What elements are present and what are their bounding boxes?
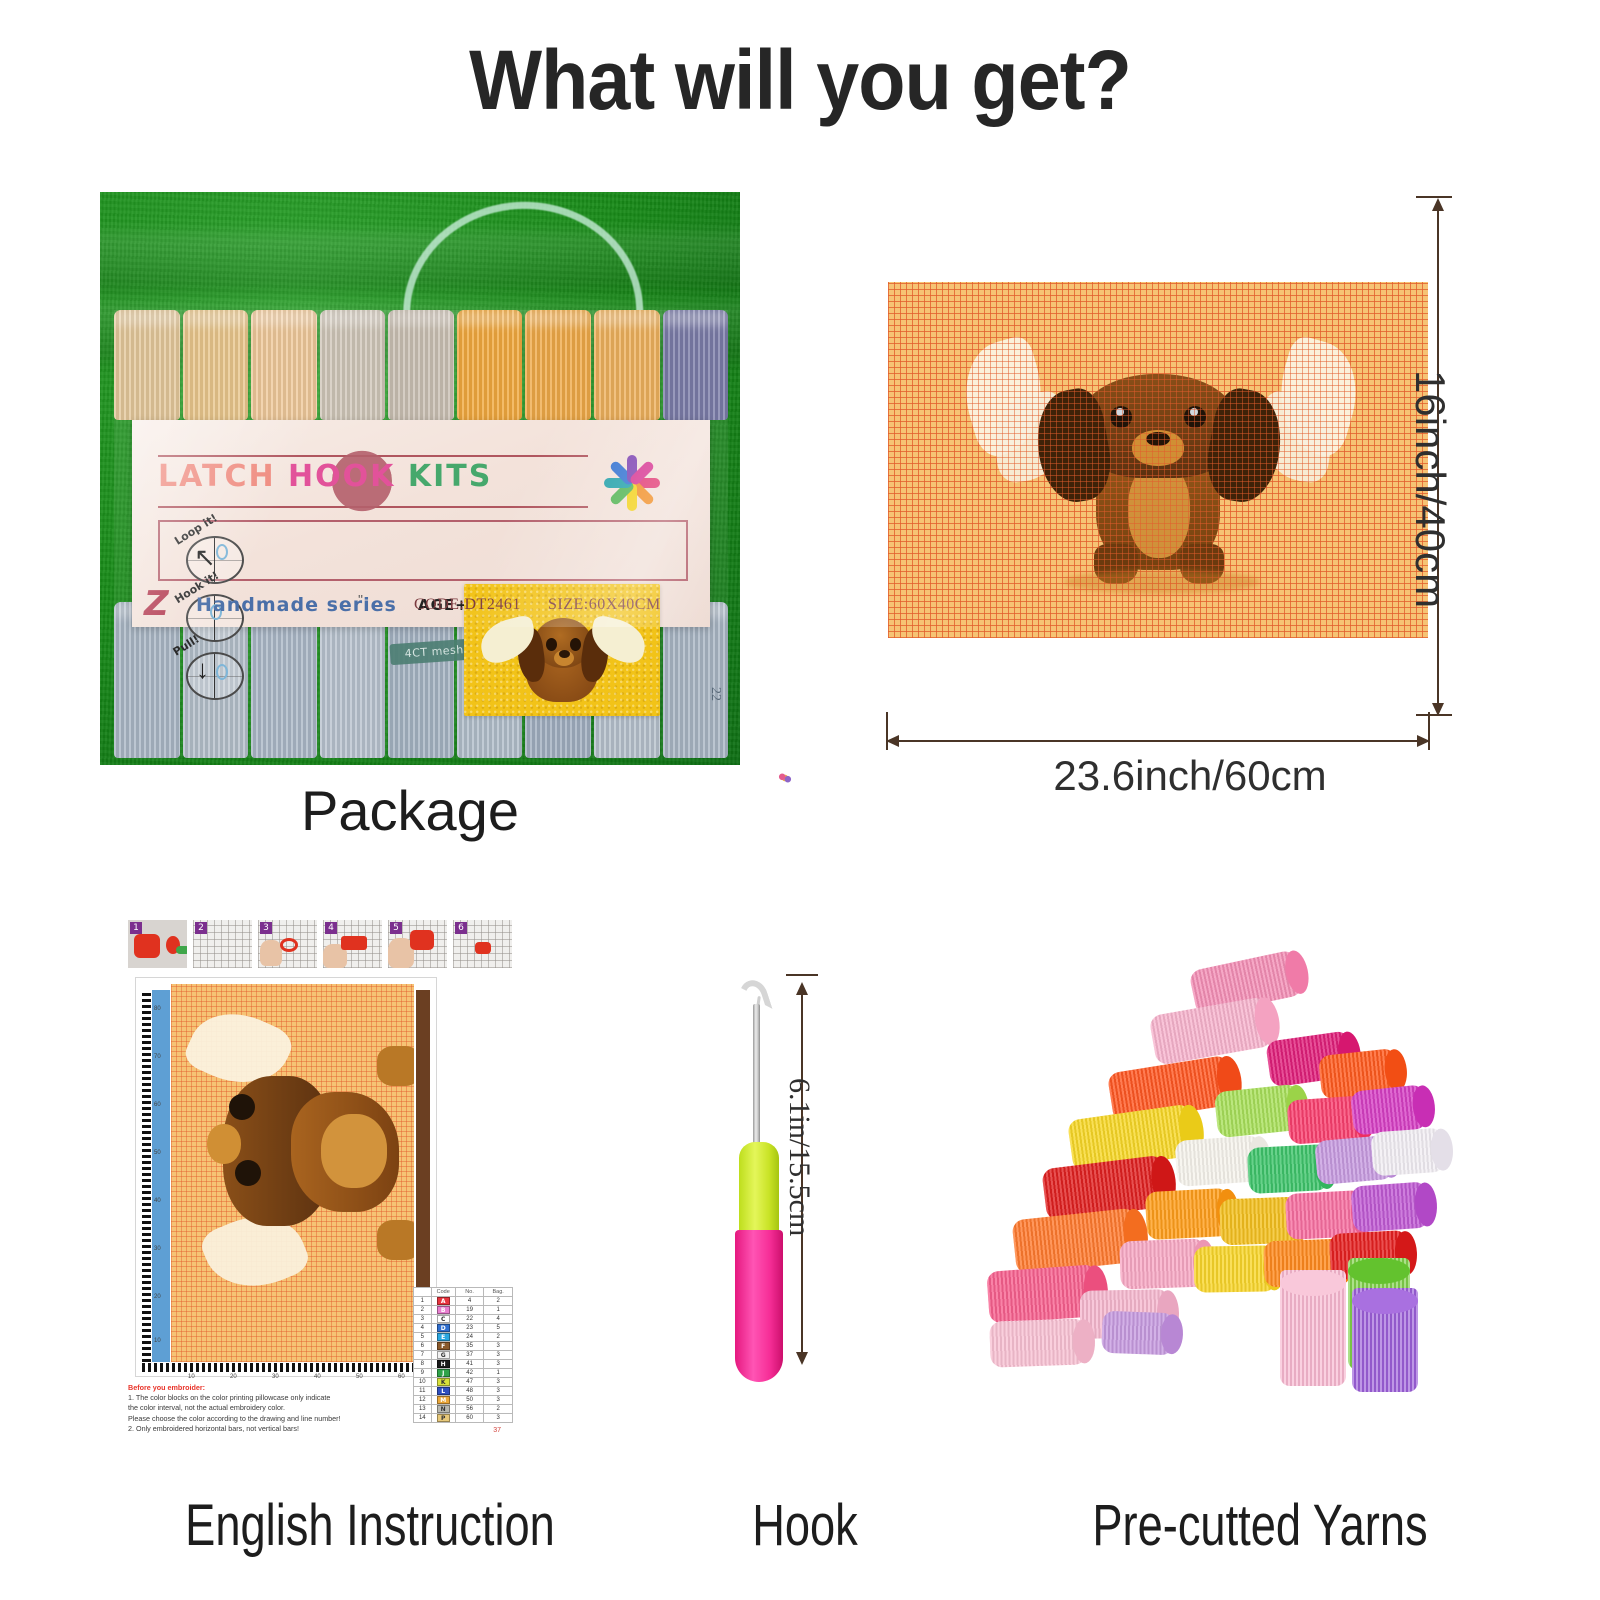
table-row: 13N562 <box>414 1405 513 1414</box>
cell-index: 3 <box>414 1315 432 1324</box>
cell-code: C <box>431 1315 455 1324</box>
yarn-bundle <box>1101 1311 1174 1355</box>
cell-no: 19 <box>455 1306 484 1315</box>
color-swatch: C <box>437 1315 450 1323</box>
hook-length-label: 6.1in/15.5cm <box>782 1078 816 1236</box>
hook-dim-tick-top <box>786 974 818 976</box>
color-swatch: A <box>437 1297 450 1305</box>
caption-pre-cutted-yarns: Pre-cutted Yarns <box>1003 1492 1518 1559</box>
dim-arrow-right <box>1417 735 1430 747</box>
cell-bag: 2 <box>484 1297 513 1306</box>
english-instruction-sheet: 1 2 3 4 5 <box>125 905 517 1475</box>
yarn-bundle <box>1145 1188 1231 1240</box>
cell-bag: 5 <box>484 1324 513 1333</box>
dimension-height-label: 16inch/40cm <box>1406 370 1454 608</box>
cell-code: G <box>431 1351 455 1360</box>
table-row: 1A42 <box>414 1297 513 1306</box>
color-swatch: J <box>437 1369 450 1377</box>
cell-code: N <box>431 1405 455 1414</box>
chart-axis-number: 10 <box>154 1338 161 1344</box>
color-swatch: P <box>437 1414 450 1422</box>
cell-no: 47 <box>455 1378 484 1387</box>
cell-bag: 1 <box>484 1369 513 1378</box>
chart-axis-number: 50 <box>154 1150 161 1156</box>
hook-dim-arrow-down <box>796 1352 808 1365</box>
note-heading: Before you embroider: <box>128 1383 418 1393</box>
cell-index: 5 <box>414 1333 432 1342</box>
hook-handle-lower <box>735 1230 783 1382</box>
yarn-roll <box>183 310 249 420</box>
cell-code: L <box>431 1387 455 1396</box>
cell-code: H <box>431 1360 455 1369</box>
col-bag: Bag. <box>484 1288 513 1297</box>
cell-bag: 4 <box>484 1315 513 1324</box>
mesh-canvas-photo <box>888 282 1428 638</box>
cell-no: 56 <box>455 1405 484 1414</box>
cell-no: 35 <box>455 1342 484 1351</box>
series-name: Handmade series <box>196 594 397 616</box>
caption-hook: Hook <box>676 1492 933 1559</box>
note-line: the color interval, not the actual embro… <box>128 1403 285 1412</box>
yarn-bundle <box>1350 1181 1429 1232</box>
cell-index: 6 <box>414 1342 432 1351</box>
cell-code: J <box>431 1369 455 1378</box>
pinwheel-logo-icon <box>600 446 664 510</box>
chart-color-bar-blue <box>152 990 170 1362</box>
cell-no: 22 <box>455 1315 484 1324</box>
step-thumbnail: 1 <box>128 920 187 968</box>
cell-code: D <box>431 1324 455 1333</box>
chart-ruler-left <box>142 990 151 1362</box>
cell-no: 23 <box>455 1324 484 1333</box>
brand-word-hook: HOOK <box>288 459 395 494</box>
pattern-chart: 80 70 60 50 40 30 20 10 10 20 30 40 50 6… <box>135 977 437 1377</box>
cell-no: 41 <box>455 1360 484 1369</box>
cell-index: 2 <box>414 1306 432 1315</box>
table-row: 5E242 <box>414 1333 513 1342</box>
table-row: 10K473 <box>414 1378 513 1387</box>
cell-bag: 2 <box>484 1333 513 1342</box>
yarn-tube <box>1280 1270 1346 1386</box>
cell-code: F <box>431 1342 455 1351</box>
cell-bag: 3 <box>484 1378 513 1387</box>
yarn-roll <box>594 310 660 420</box>
color-swatch: G <box>437 1351 450 1359</box>
cell-bag: 1 <box>484 1306 513 1315</box>
color-swatch: M <box>437 1396 450 1404</box>
note-line: Please choose the color according to the… <box>128 1414 341 1423</box>
table-row: 11L483 <box>414 1387 513 1396</box>
package-bag: LATCH HOOK KITS <box>114 310 728 758</box>
cell-bag: 3 <box>484 1396 513 1405</box>
note-line: 1. The color blocks on the color printin… <box>128 1393 330 1402</box>
step-number: 2 <box>195 922 207 934</box>
cell-no: 48 <box>455 1387 484 1396</box>
cell-no: 37 <box>455 1351 484 1360</box>
cell-no: 42 <box>455 1369 484 1378</box>
pixelated-puppy-artwork <box>888 282 1428 638</box>
yarn-bundle <box>989 1318 1087 1367</box>
cell-no: 60 <box>455 1414 484 1423</box>
cell-bag: 2 <box>484 1405 513 1414</box>
yarn-rolls-top <box>114 310 728 420</box>
cell-bag: 3 <box>484 1342 513 1351</box>
cell-code: M <box>431 1396 455 1405</box>
chart-pattern-grid <box>171 984 414 1362</box>
chart-axis-number: 50 <box>356 1374 363 1380</box>
dim-arrow-down <box>1432 703 1444 716</box>
chart-axis-number: 10 <box>188 1374 195 1380</box>
cell-index: 1 <box>414 1297 432 1306</box>
z-logo-icon: Z <box>144 589 188 619</box>
step-thumbnail: 4 <box>323 920 382 968</box>
cell-index: 8 <box>414 1360 432 1369</box>
dim-arrow-up <box>1432 198 1444 211</box>
cell-no: 4 <box>455 1297 484 1306</box>
yarn-roll <box>251 310 317 420</box>
brand-title: LATCH HOOK KITS <box>158 459 594 494</box>
yarn-roll <box>320 310 386 420</box>
color-swatch: L <box>437 1387 450 1395</box>
infographic-page: What will you get? <box>0 0 1600 1600</box>
yarn-roll <box>663 310 729 420</box>
cell-code: P <box>431 1414 455 1423</box>
step-pull: ↓ Pull! <box>186 652 244 700</box>
chart-axis-number: 60 <box>154 1102 161 1108</box>
color-swatch: N <box>437 1405 450 1413</box>
chart-axis-number: 30 <box>272 1374 279 1380</box>
color-swatch: B <box>437 1306 450 1314</box>
table-header-row: Code No. Bag. <box>414 1288 513 1297</box>
caption-english-instruction: English Instruction <box>97 1492 643 1559</box>
table-row: 9J421 <box>414 1369 513 1378</box>
yarn-bundle <box>1371 1128 1446 1177</box>
bag-side-number: 22 <box>707 687 723 701</box>
trademark-mark: '' <box>358 592 363 607</box>
step-thumbnail: 2 <box>193 920 252 968</box>
table-row: 12M503 <box>414 1396 513 1405</box>
color-swatch: H <box>437 1360 450 1368</box>
table-row: 6F353 <box>414 1342 513 1351</box>
label-footer: Z Handmade series '' CODE:DT2461 SIZE:60… <box>132 585 710 621</box>
step-photo-strip: 1 2 3 4 5 <box>128 920 512 968</box>
yarn-roll <box>457 310 523 420</box>
color-swatch: E <box>437 1333 450 1341</box>
cell-bag: 3 <box>484 1414 513 1423</box>
product-code: CODE:DT2461 <box>414 596 521 614</box>
yarn-roll <box>525 310 591 420</box>
package-photo: LATCH HOOK KITS <box>100 192 740 765</box>
dimension-line-horizontal <box>892 740 1426 742</box>
hook-handle-upper <box>739 1142 779 1234</box>
product-size: SIZE:60X40CM <box>548 596 661 614</box>
before-you-embroider-note: Before you embroider: 1. The color block… <box>128 1383 418 1434</box>
yarn-roll <box>114 310 180 420</box>
chart-axis-number: 30 <box>154 1246 161 1252</box>
table-row: 2B191 <box>414 1306 513 1315</box>
yarn-bundle <box>1350 1084 1428 1135</box>
col-code: Code <box>431 1288 455 1297</box>
table-row: 7G373 <box>414 1351 513 1360</box>
chart-axis-number: 40 <box>314 1374 321 1380</box>
color-swatch: K <box>437 1378 450 1386</box>
step-number: 5 <box>390 922 402 934</box>
step-thumbnail: 5 <box>388 920 447 968</box>
color-speck-artifact <box>778 772 792 784</box>
col-no: No. <box>455 1288 484 1297</box>
color-swatch: F <box>437 1342 450 1350</box>
instruction-panel: ↖ Loop it! Hook it! ↓ <box>158 520 688 581</box>
cell-index: 7 <box>414 1351 432 1360</box>
chart-axis-number: 80 <box>154 1006 161 1012</box>
brand-word-kits: KITS <box>408 459 492 494</box>
cell-no: 24 <box>455 1333 484 1342</box>
cell-bag: 3 <box>484 1387 513 1396</box>
page-title: What will you get? <box>64 32 1536 129</box>
package-label: LATCH HOOK KITS <box>132 420 710 627</box>
cell-code: K <box>431 1378 455 1387</box>
cell-bag: 3 <box>484 1351 513 1360</box>
latch-hook-tool <box>690 960 870 1400</box>
cell-no: 50 <box>455 1396 484 1405</box>
table-row: 4D235 <box>414 1324 513 1333</box>
table-row: 8H413 <box>414 1360 513 1369</box>
step-number: 1 <box>130 922 142 934</box>
color-code-table: Code No. Bag. 1A422B1913C2244D2355E2426F… <box>413 1287 513 1423</box>
note-line: 2. Only embroidered horizontal bars, not… <box>128 1424 299 1433</box>
chart-axis-number: 20 <box>230 1374 237 1380</box>
cell-code: E <box>431 1333 455 1342</box>
table-row: 14P603 <box>414 1414 513 1423</box>
chart-axis-number: 40 <box>154 1198 161 1204</box>
chart-axis-number: 60 <box>398 1374 405 1380</box>
step-number: 3 <box>260 922 272 934</box>
yarn-bundle <box>1149 996 1274 1066</box>
color-table-total: 37 <box>493 1427 501 1434</box>
hook-dim-arrow-up <box>796 982 808 995</box>
step-number: 6 <box>455 922 467 934</box>
dimension-width-label: 23.6inch/60cm <box>940 752 1440 800</box>
brand-word-latch: LATCH <box>158 459 276 494</box>
chart-axis-number: 70 <box>154 1054 161 1060</box>
cell-index: 4 <box>414 1324 432 1333</box>
table-row: 3C224 <box>414 1315 513 1324</box>
hook-shaft <box>753 1004 760 1150</box>
col-index <box>414 1288 432 1297</box>
step-thumbnail: 6 <box>453 920 512 968</box>
chart-axis-number: 20 <box>154 1294 161 1300</box>
cell-index: 9 <box>414 1369 432 1378</box>
cell-code: B <box>431 1306 455 1315</box>
yarn-tube <box>1352 1288 1418 1392</box>
caption-package: Package <box>100 778 720 843</box>
step-number: 4 <box>325 922 337 934</box>
precut-yarn-pile <box>980 940 1470 1390</box>
cell-code: A <box>431 1297 455 1306</box>
yarn-roll <box>388 310 454 420</box>
cell-bag: 3 <box>484 1360 513 1369</box>
step-thumbnail: 3 <box>258 920 317 968</box>
color-swatch: D <box>437 1324 450 1332</box>
chart-ruler-bottom <box>142 1363 430 1372</box>
dim-arrow-left <box>886 735 899 747</box>
